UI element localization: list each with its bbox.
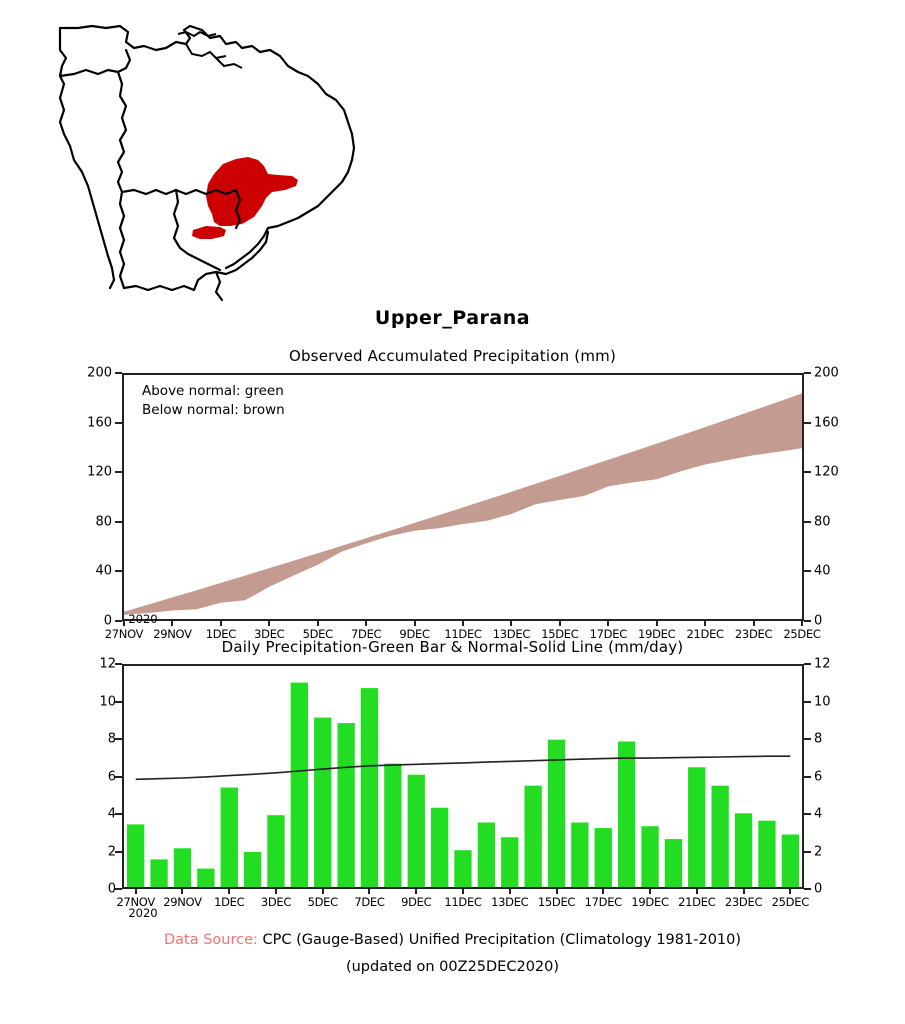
axis-tick-mark	[649, 889, 651, 894]
daily-ytick-8: 8	[82, 732, 116, 747]
accumulated-precipitation-chart: Observed Accumulated Precipitation (mm) …	[0, 345, 905, 635]
daily-xtick-1DEC: 1DEC	[214, 895, 244, 909]
daily-bar	[361, 688, 378, 887]
axis-tick-mark	[115, 851, 122, 853]
daily-bar	[174, 848, 191, 887]
acc-ytick-right-80: 80	[814, 514, 831, 529]
footer: Data Source: CPC (Gauge-Based) Unified P…	[0, 932, 905, 975]
daily-bar	[338, 723, 355, 887]
daily-ytick-12: 12	[82, 657, 116, 672]
daily-bar	[150, 859, 167, 887]
daily-bar	[267, 815, 284, 887]
axis-tick-mark	[415, 889, 417, 894]
acc-ytick-200: 200	[78, 366, 112, 381]
axis-tick-mark	[275, 889, 277, 894]
daily-bars-plot	[124, 666, 802, 887]
axis-tick-mark	[801, 621, 803, 626]
acc-ytick-80: 80	[78, 514, 112, 529]
axis-tick-mark	[171, 621, 173, 626]
daily-xtick-21DEC: 21DEC	[678, 895, 715, 909]
data-source-line: Data Source: CPC (Gauge-Based) Unified P…	[0, 932, 905, 948]
daily-ytick-4: 4	[82, 807, 116, 822]
daily-bar	[571, 823, 588, 888]
daily-xtick-9DEC: 9DEC	[401, 895, 431, 909]
axis-tick-mark	[220, 621, 222, 626]
data-source-text: CPC (Gauge-Based) Unified Precipitation …	[263, 932, 742, 948]
axis-tick-mark	[322, 889, 324, 894]
axis-tick-mark	[115, 570, 122, 572]
acc-ytick-right-160: 160	[814, 415, 839, 430]
daily-bar	[782, 835, 799, 888]
axis-tick-mark	[804, 738, 811, 740]
daily-bar	[758, 821, 775, 887]
daily-ytick-10: 10	[82, 694, 116, 709]
axis-tick-mark	[804, 570, 811, 572]
axis-tick-mark	[556, 889, 558, 894]
axis-tick-mark	[656, 621, 658, 626]
daily-ytick-right-8: 8	[814, 732, 822, 747]
daily-xtick-19DEC: 19DEC	[631, 895, 668, 909]
axis-tick-mark	[115, 372, 122, 374]
south-america-basin-map	[30, 14, 390, 302]
axis-tick-mark	[559, 621, 561, 626]
axis-tick-mark	[789, 889, 791, 894]
daily-bar	[688, 767, 705, 887]
daily-xtick-23DEC: 23DEC	[725, 895, 762, 909]
axis-tick-mark	[228, 889, 230, 894]
acc-ytick-160: 160	[78, 415, 112, 430]
axis-tick-mark	[115, 663, 122, 665]
axis-tick-mark	[696, 889, 698, 894]
axis-tick-mark	[414, 621, 416, 626]
daily-xtick-13DEC: 13DEC	[491, 895, 528, 909]
daily-bar	[712, 786, 729, 887]
daily-ytick-right-2: 2	[814, 844, 822, 859]
daily-ytick-right-0: 0	[814, 882, 822, 897]
daily-xtick-5DEC: 5DEC	[308, 895, 338, 909]
daily-bar	[384, 764, 401, 887]
axis-tick-mark	[804, 521, 811, 523]
axis-tick-mark	[804, 888, 811, 890]
daily-bar	[291, 683, 308, 887]
daily-bar	[197, 869, 214, 887]
axis-tick-mark	[268, 621, 270, 626]
daily-xtick-29NOV: 29NOV	[163, 895, 201, 909]
axis-tick-mark	[115, 888, 122, 890]
axis-tick-mark	[804, 776, 811, 778]
axis-tick-mark	[115, 521, 122, 523]
daily-precipitation-chart: Daily Precipitation-Green Bar & Normal-S…	[0, 634, 905, 924]
page-title: Upper_Parana	[0, 307, 905, 329]
daily-ytick-right-12: 12	[814, 657, 831, 672]
daily-bar	[408, 775, 425, 887]
axis-tick-mark	[115, 471, 122, 473]
axis-tick-mark	[509, 889, 511, 894]
acc-ytick-right-40: 40	[814, 564, 831, 579]
accumulated-year-label: 2020	[128, 612, 157, 626]
daily-ytick-6: 6	[82, 769, 116, 784]
axis-tick-mark	[753, 621, 755, 626]
daily-bar	[595, 828, 612, 887]
axis-tick-mark	[115, 776, 122, 778]
axis-tick-mark	[804, 851, 811, 853]
daily-ytick-right-10: 10	[814, 694, 831, 709]
axis-tick-mark	[115, 620, 122, 622]
axis-tick-mark	[115, 813, 122, 815]
daily-bar	[501, 837, 518, 887]
daily-bar	[641, 826, 658, 887]
acc-ytick-right-200: 200	[814, 366, 839, 381]
axis-tick-mark	[317, 621, 319, 626]
daily-bar	[665, 839, 682, 887]
daily-bar	[221, 788, 238, 888]
daily-bar	[244, 852, 261, 887]
axis-tick-mark	[804, 701, 811, 703]
daily-ytick-right-6: 6	[814, 769, 822, 784]
daily-xtick-15DEC: 15DEC	[538, 895, 575, 909]
daily-xtick-3DEC: 3DEC	[261, 895, 291, 909]
axis-tick-mark	[115, 738, 122, 740]
axis-tick-mark	[123, 621, 125, 626]
daily-bar	[314, 718, 331, 887]
daily-bar	[127, 824, 144, 887]
daily-bar	[618, 742, 635, 888]
axis-tick-mark	[804, 372, 811, 374]
axis-tick-mark	[804, 471, 811, 473]
daily-bar	[478, 823, 495, 888]
daily-bar	[525, 786, 542, 887]
axis-tick-mark	[804, 620, 811, 622]
acc-ytick-40: 40	[78, 564, 112, 579]
daily-bar	[431, 808, 448, 887]
daily-ytick-2: 2	[82, 844, 116, 859]
axis-tick-mark	[135, 889, 137, 894]
axis-tick-mark	[115, 701, 122, 703]
map-highlight-region	[192, 157, 298, 239]
acc-ytick-120: 120	[78, 465, 112, 480]
axis-tick-mark	[365, 621, 367, 626]
axis-tick-mark	[704, 621, 706, 626]
daily-chart-title: Daily Precipitation-Green Bar & Normal-S…	[0, 638, 905, 656]
axis-tick-mark	[510, 621, 512, 626]
accumulated-band-plot	[124, 375, 802, 619]
daily-xtick-25DEC: 25DEC	[772, 895, 809, 909]
axis-tick-mark	[743, 889, 745, 894]
daily-xtick-17DEC: 17DEC	[585, 895, 622, 909]
axis-tick-mark	[804, 663, 811, 665]
map-country-outlines	[60, 26, 354, 300]
axis-tick-mark	[462, 889, 464, 894]
axis-tick-mark	[607, 621, 609, 626]
daily-bar	[735, 813, 752, 887]
daily-year-label: 2020	[128, 906, 157, 920]
axis-tick-mark	[804, 813, 811, 815]
daily-xtick-11DEC: 11DEC	[444, 895, 481, 909]
accumulated-chart-title: Observed Accumulated Precipitation (mm)	[0, 347, 905, 365]
axis-tick-mark	[804, 422, 811, 424]
updated-line: (updated on 00Z25DEC2020)	[0, 959, 905, 975]
axis-tick-mark	[602, 889, 604, 894]
daily-bar	[454, 850, 471, 887]
acc-ytick-right-120: 120	[814, 465, 839, 480]
daily-bar	[548, 740, 565, 887]
axis-tick-mark	[368, 889, 370, 894]
axis-tick-mark	[115, 422, 122, 424]
precipitation-report-page: Upper_Parana Observed Accumulated Precip…	[0, 0, 905, 1024]
data-source-label: Data Source:	[164, 932, 258, 948]
daily-xtick-7DEC: 7DEC	[354, 895, 384, 909]
daily-ytick-right-4: 4	[814, 807, 822, 822]
axis-tick-mark	[181, 889, 183, 894]
daily-ytick-0: 0	[82, 882, 116, 897]
axis-tick-mark	[462, 621, 464, 626]
